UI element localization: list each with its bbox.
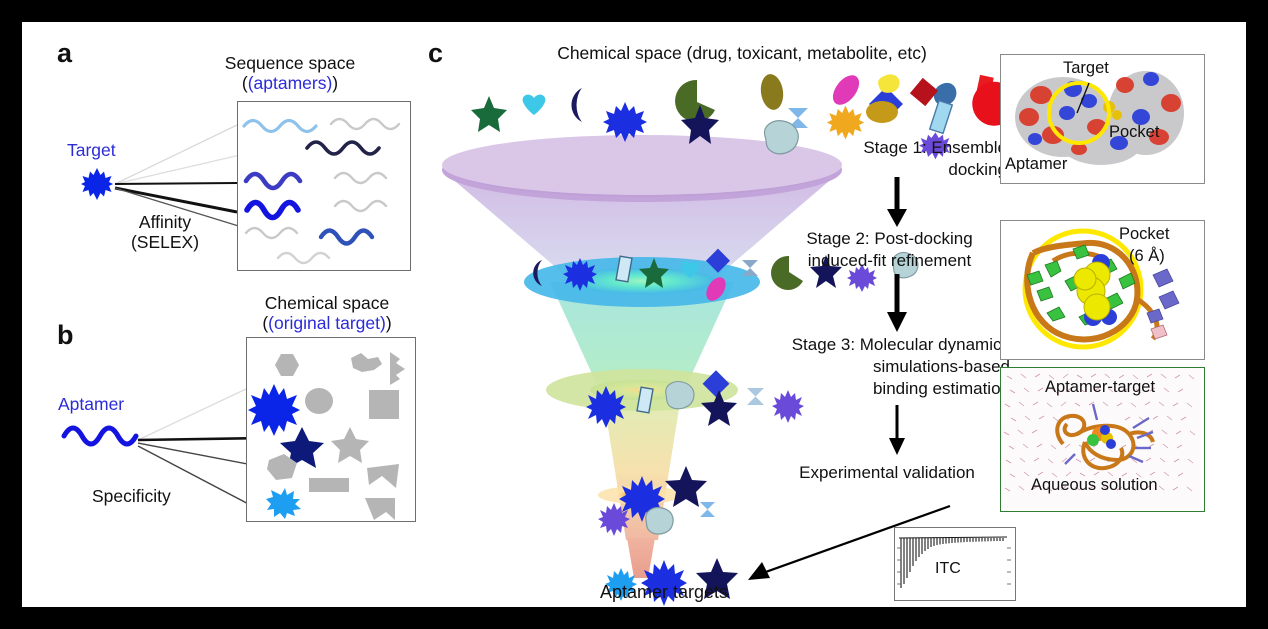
experimental-validation-label: Experimental validation (762, 462, 1012, 484)
chevron-shape (367, 464, 399, 488)
square-shape (369, 390, 399, 419)
itc-label: ITC (935, 560, 961, 578)
diamond-blue-shape (703, 370, 730, 397)
aptamer-targets-label: Aptamer targets (600, 582, 728, 603)
diamond-crimson-shape (910, 78, 938, 106)
pocket-label: Pocket (1109, 123, 1159, 141)
pacman-olive-shape (675, 80, 715, 122)
ellipse-magenta-shape (702, 274, 729, 305)
hexagon-shape (275, 354, 299, 376)
side-image-pocket-closeup: Pocket (6 Å) (1000, 220, 1205, 360)
stage-3-line3: binding estimation (748, 378, 1010, 400)
pocket-render (1001, 221, 1201, 356)
aptamer-target-label: Aptamer-target (1045, 378, 1155, 396)
rect-lightblue-shape (616, 256, 632, 282)
star-grey-shape (331, 427, 369, 463)
panel-b-caption: Specificity (92, 486, 171, 506)
ellipse-olive-shape (759, 73, 786, 112)
arrow-right-shape (390, 352, 405, 385)
stage-1-line1: Stage 1: Ensemble (777, 137, 1007, 159)
diamond-blue-shape (706, 249, 730, 273)
side-image-docking-surface: Target Pocket Aptamer (1000, 54, 1205, 184)
spiky-blob-shape (266, 488, 301, 519)
pocket-label: Pocket (1119, 225, 1169, 243)
rect-lightblue-shape (930, 101, 953, 134)
panel-a-caption-line1: Affinity (115, 212, 215, 232)
bowtie-lightblue-shape (700, 502, 715, 517)
cluster-arrow-shape (351, 353, 382, 372)
panel-a-caption-line2: (SELEX) (115, 232, 215, 252)
ellipse-gold-shape (866, 101, 898, 123)
stage-1-label: Stage 1: Ensemble docking (777, 137, 1007, 181)
crescent-navy-shape (533, 260, 542, 286)
figure-canvas: a Sequence space ((aptamers)) Target (22, 22, 1246, 607)
rectangle-shape (309, 478, 349, 492)
star-green-shape (471, 96, 507, 132)
ellipse-shape (305, 388, 333, 414)
aqueous-solution-label: Aqueous solution (1031, 476, 1158, 494)
aptamer-label: Aptamer (1005, 155, 1067, 173)
target-label: Target (1063, 59, 1109, 77)
blob-grey-shape (666, 382, 694, 409)
stage-3-line1: Stage 3: Molecular dynamics (748, 334, 1010, 356)
panel-c-title: Chemical space (drug, toxicant, metaboli… (442, 44, 1042, 64)
bowtie-lightblue-shape (742, 260, 758, 276)
star-navy-shape (701, 390, 737, 426)
crescent-navy-shape (571, 88, 582, 122)
panel-c-label: c (428, 38, 443, 69)
flow-arrow-2 (884, 274, 910, 334)
target-burst-shape (248, 384, 300, 436)
burst-blue-shape (586, 386, 626, 428)
stage-3-line2: simulations-based (748, 356, 1010, 378)
stage-2-label: Stage 2: Post-docking induced-fit refine… (772, 228, 1007, 272)
heart-cyan-shape (681, 262, 698, 278)
blob-grey-shape (646, 508, 673, 534)
star-navy-shape (665, 466, 707, 507)
flow-arrow-3 (886, 405, 908, 457)
blob-yellow-shape (878, 74, 900, 93)
burst-blue-shape (563, 258, 597, 291)
rect-lightblue-shape (637, 387, 653, 413)
stage-3-label: Stage 3: Molecular dynamics simulations-… (748, 334, 1010, 399)
star-green-shape (639, 258, 669, 288)
stage-2-line2: induced-fit refinement (772, 250, 1007, 272)
pocket-radius-label: (6 Å) (1129, 247, 1165, 265)
tier4-shape-group (604, 462, 734, 532)
panel-a-sequence-space-box (237, 101, 411, 271)
panel-b-chemical-space-box (246, 337, 416, 522)
panel-b-shape-field (247, 338, 415, 521)
side-image-md-box: Aptamer-target Aqueous solution (1000, 367, 1205, 512)
notched-square-shape (365, 498, 395, 520)
itc-inset: ITC (894, 527, 1016, 601)
stage-2-line1: Stage 2: Post-docking (772, 228, 1007, 250)
panel-a-caption: Affinity (SELEX) (115, 212, 215, 252)
panel-a-waves (238, 102, 410, 270)
flow-arrow-1 (884, 177, 910, 229)
heart-cyan-shape (523, 95, 546, 115)
